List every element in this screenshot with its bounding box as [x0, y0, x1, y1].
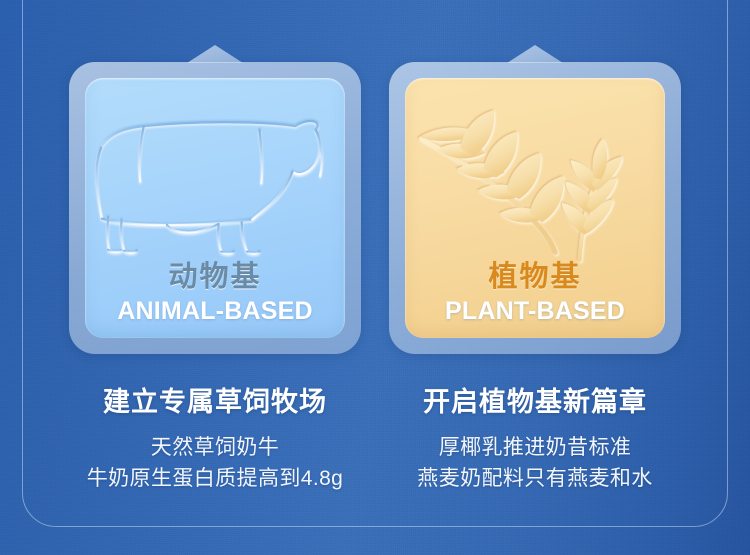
tile-label-en: PLANT-BASED [405, 299, 665, 324]
caption-line: 天然草饲奶牛 [69, 432, 361, 463]
tile-label-en: ANIMAL-BASED [85, 299, 345, 324]
caption-line: 燕麦奶配料只有燕麦和水 [389, 463, 681, 494]
caption-title: 开启植物基新篇章 [389, 380, 681, 419]
card-tile: 植物基 PLANT-BASED [405, 78, 665, 338]
card-plant-based[interactable]: 植物基 PLANT-BASED 开启植物基新篇章 厚椰乳推进奶昔标准 燕麦奶配料… [389, 62, 681, 555]
caption-line: 牛奶原生蛋白质提高到4.8g [69, 463, 361, 494]
card-tile: 动物基 ANIMAL-BASED [85, 78, 345, 338]
tile-label-group: 植物基 PLANT-BASED [405, 263, 665, 324]
tile-label-cn: 动物基 [85, 263, 345, 292]
caption-line-group: 天然草饲奶牛 牛奶原生蛋白质提高到4.8g [69, 432, 361, 494]
card-notch-peak [187, 45, 243, 63]
card-caption: 建立专属草饲牧场 天然草饲奶牛 牛奶原生蛋白质提高到4.8g [69, 380, 361, 494]
card-caption: 开启植物基新篇章 厚椰乳推进奶昔标准 燕麦奶配料只有燕麦和水 [389, 380, 681, 494]
tile-label-group: 动物基 ANIMAL-BASED [85, 263, 345, 324]
tile-label-cn: 植物基 [405, 263, 665, 292]
caption-line-group: 厚椰乳推进奶昔标准 燕麦奶配料只有燕麦和水 [389, 432, 681, 494]
card-animal-based[interactable]: 动物基 ANIMAL-BASED 建立专属草饲牧场 天然草饲奶牛 牛奶原生蛋白质… [69, 62, 361, 555]
caption-title: 建立专属草饲牧场 [69, 380, 361, 419]
card-notch-peak [507, 45, 563, 63]
caption-line: 厚椰乳推进奶昔标准 [389, 432, 681, 463]
card-panel: 植物基 PLANT-BASED [389, 62, 681, 354]
cow-silhouette-icon [85, 82, 345, 270]
card-panel: 动物基 ANIMAL-BASED [69, 62, 361, 354]
card-row: 动物基 ANIMAL-BASED 建立专属草饲牧场 天然草饲奶牛 牛奶原生蛋白质… [0, 0, 750, 555]
leaf-branches-icon [405, 82, 665, 270]
promo-banner: 动物基 ANIMAL-BASED 建立专属草饲牧场 天然草饲奶牛 牛奶原生蛋白质… [0, 0, 750, 555]
